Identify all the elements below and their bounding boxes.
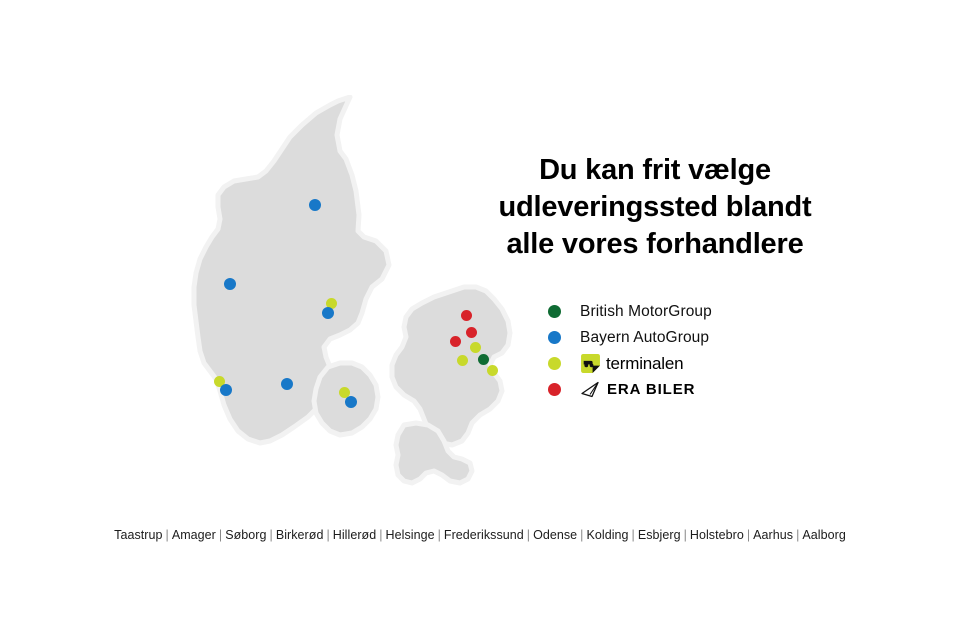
city-separator: | bbox=[435, 528, 444, 542]
city-name: Hillerød bbox=[333, 528, 376, 542]
legend-label-british-motorgroup: British MotorGroup bbox=[580, 303, 712, 321]
city-separator: | bbox=[629, 528, 638, 542]
terminalen-logo: terminalen bbox=[580, 353, 683, 374]
era-biler-triangle-icon bbox=[580, 381, 601, 398]
legend-dot-green bbox=[548, 305, 561, 318]
city-separator: | bbox=[216, 528, 225, 542]
map-dot-odense[interactable] bbox=[345, 396, 357, 408]
terminalen-mark-icon bbox=[580, 353, 601, 374]
city-name: Birkerød bbox=[276, 528, 324, 542]
terminalen-wordmark: terminalen bbox=[606, 354, 683, 374]
legend-item-british-motorgroup[interactable]: British MotorGroup bbox=[548, 299, 868, 324]
city-separator: | bbox=[163, 528, 172, 542]
city-name: Kolding bbox=[586, 528, 628, 542]
city-name: Taastrup bbox=[114, 528, 162, 542]
map-dot-birkerod[interactable] bbox=[470, 342, 481, 353]
map-dot-kolding[interactable] bbox=[281, 378, 293, 390]
city-separator: | bbox=[267, 528, 276, 542]
map-dot-holstebro[interactable] bbox=[224, 278, 236, 290]
headline-line-1: Du kan frit vælge bbox=[455, 152, 855, 189]
city-separator: | bbox=[524, 528, 533, 542]
map-dot-amager[interactable] bbox=[487, 365, 498, 376]
map-dot-esbjerg[interactable] bbox=[220, 384, 232, 396]
city-name: Aarhus bbox=[753, 528, 793, 542]
map-dot-aarhus[interactable] bbox=[322, 307, 334, 319]
legend-item-terminalen[interactable]: terminalen bbox=[548, 351, 868, 376]
city-name: Amager bbox=[172, 528, 216, 542]
headline-line-2: udleveringssted blandt bbox=[455, 189, 855, 226]
city-name: Esbjerg bbox=[638, 528, 681, 542]
legend-item-era-biler[interactable]: ERA BILER bbox=[548, 377, 868, 402]
page-title: Du kan frit vælge udleveringssted blandt… bbox=[455, 152, 855, 263]
city-name: Holstebro bbox=[690, 528, 744, 542]
map-dot-soborg[interactable] bbox=[478, 354, 489, 365]
city-separator: | bbox=[744, 528, 753, 542]
city-name: Frederikssund bbox=[444, 528, 524, 542]
city-separator: | bbox=[323, 528, 332, 542]
legend-item-bayern-autogroup[interactable]: Bayern AutoGroup bbox=[548, 325, 868, 350]
city-name: Søborg bbox=[225, 528, 266, 542]
promo-graphic: Du kan frit vælge udleveringssted blandt… bbox=[0, 0, 960, 640]
map-dot-helsinge[interactable] bbox=[461, 310, 472, 321]
era-biler-wordmark: ERA BILER bbox=[607, 381, 695, 398]
map-dot-frederikssund[interactable] bbox=[450, 336, 461, 347]
map-dot-hillerod[interactable] bbox=[466, 327, 477, 338]
legend-dot-red bbox=[548, 383, 561, 396]
city-name: Aalborg bbox=[802, 528, 845, 542]
city-separator: | bbox=[793, 528, 802, 542]
city-separator: | bbox=[681, 528, 690, 542]
dealer-legend: British MotorGroup Bayern AutoGroup term… bbox=[548, 299, 868, 403]
legend-dot-blue bbox=[548, 331, 561, 344]
legend-label-bayern-autogroup: Bayern AutoGroup bbox=[580, 329, 709, 347]
map-dot-taastrup[interactable] bbox=[457, 355, 468, 366]
headline-line-3: alle vores forhandlere bbox=[455, 226, 855, 263]
city-separator: | bbox=[376, 528, 385, 542]
city-name: Odense bbox=[533, 528, 577, 542]
city-list: Taastrup|Amager|Søborg|Birkerød|Hillerød… bbox=[0, 528, 960, 542]
map-dot-aalborg[interactable] bbox=[309, 199, 321, 211]
city-name: Helsinge bbox=[386, 528, 435, 542]
legend-dot-yellow bbox=[548, 357, 561, 370]
era-biler-logo: ERA BILER bbox=[580, 381, 695, 398]
